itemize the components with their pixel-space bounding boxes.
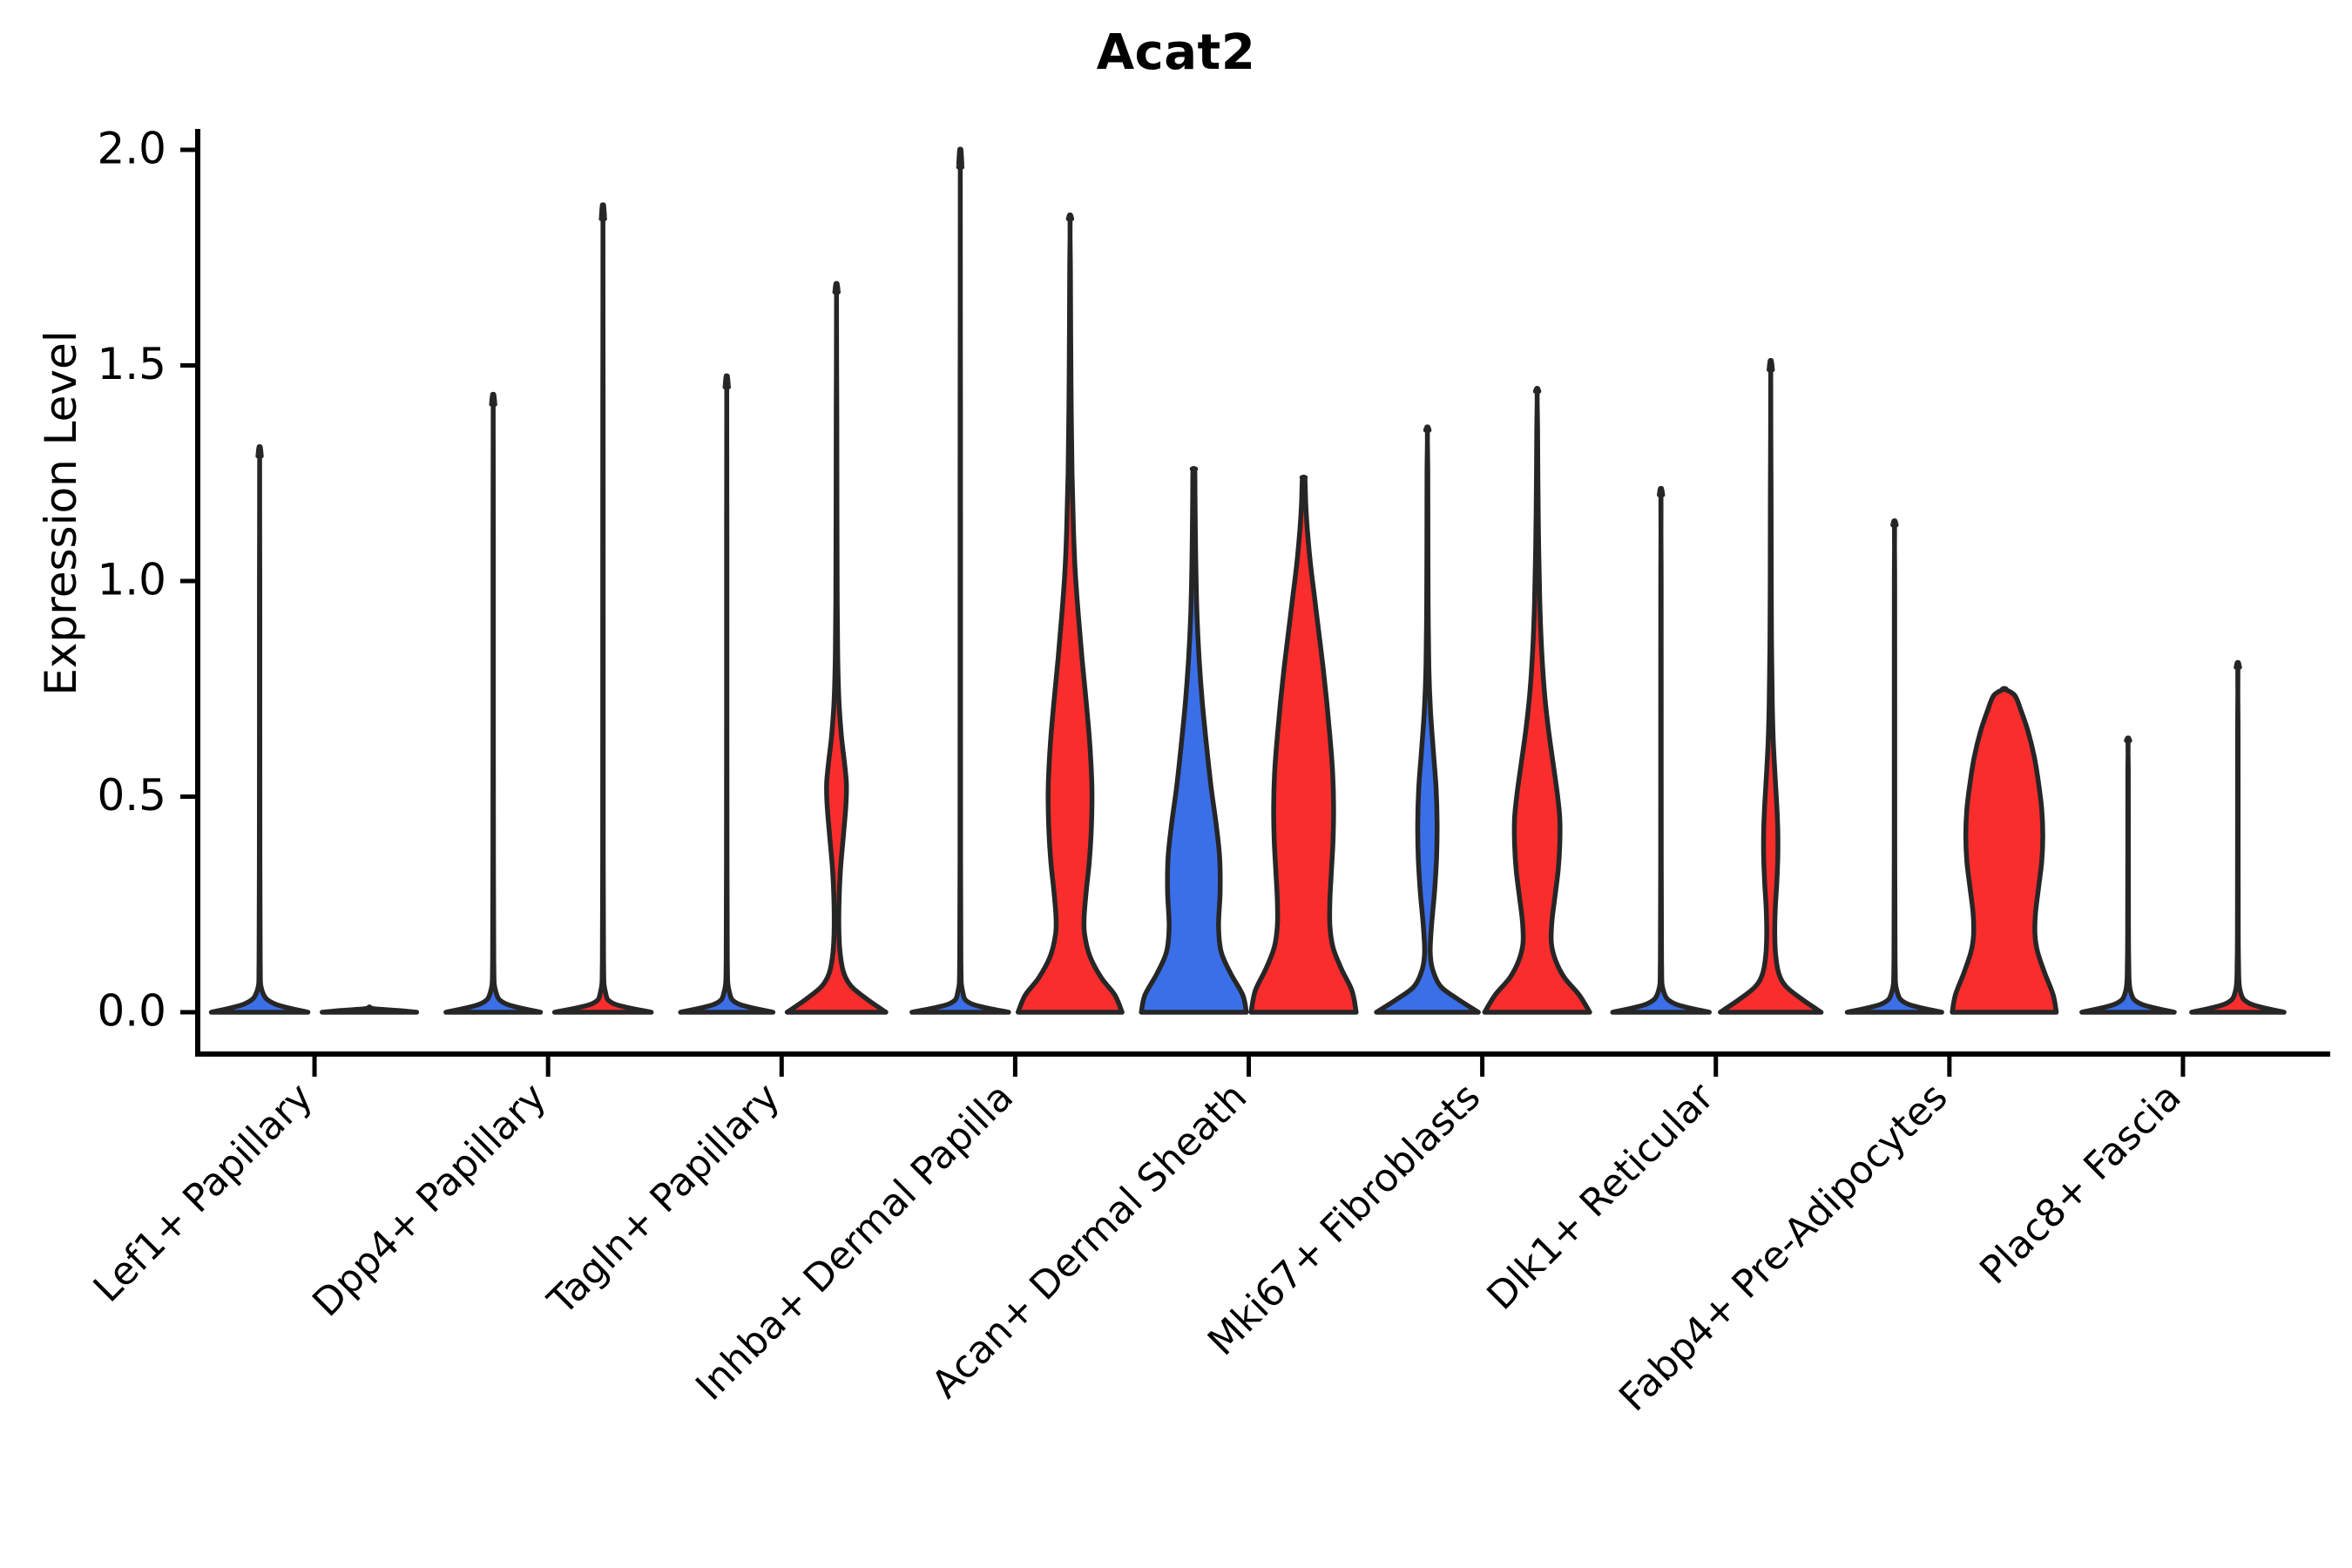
violin-series-a[interactable]: [212, 447, 308, 1012]
violin-series-b[interactable]: [1251, 477, 1356, 1012]
violin-series-b[interactable]: [555, 205, 652, 1012]
violin-group[interactable]: [1376, 389, 1590, 1012]
violin-group[interactable]: [446, 205, 652, 1012]
violin-series-a[interactable]: [1376, 427, 1478, 1012]
violin-series-a[interactable]: [1141, 469, 1247, 1012]
y-tick-label: 0.0: [97, 986, 166, 1037]
y-tick-label: 2.0: [97, 124, 166, 174]
violin-series-a[interactable]: [2082, 738, 2174, 1012]
violin-series-b[interactable]: [1484, 389, 1590, 1012]
violin-group[interactable]: [2082, 663, 2284, 1012]
violin-series-a[interactable]: [912, 149, 1009, 1012]
violin-series-b[interactable]: [1720, 361, 1821, 1012]
y-tick-labels: 0.00.51.01.52.0: [97, 124, 166, 1037]
violin-series-b[interactable]: [2192, 663, 2284, 1012]
violin-group[interactable]: [912, 149, 1122, 1012]
violin-group[interactable]: [1848, 521, 2057, 1012]
plot-canvas: 0.00.51.01.52.0 Lef1+ PapillaryDpp4+ Pap…: [0, 0, 2352, 1568]
violin-series-a[interactable]: [1848, 521, 1943, 1012]
y-tick-label: 1.5: [97, 339, 166, 389]
x-tick-label: Plac8+ Fascia: [1971, 1075, 2190, 1294]
x-tick-label: Dlk1+ Reticular: [1479, 1074, 1724, 1319]
violin-group[interactable]: [212, 447, 417, 1012]
y-tick-label: 0.5: [97, 770, 166, 821]
violin-group[interactable]: [680, 283, 886, 1012]
violin-plot-figure: Acat2 Expression Level 0.00.51.01.52.0 L…: [0, 0, 2352, 1568]
violin-series-a[interactable]: [680, 375, 773, 1012]
violin-series-b[interactable]: [787, 283, 886, 1012]
x-tick-labels: Lef1+ PapillaryDpp4+ PapillaryTagln+ Pap…: [85, 1074, 2190, 1420]
x-tick-label: Tagln+ Papillary: [539, 1075, 788, 1324]
violin-series-a[interactable]: [1612, 489, 1709, 1012]
x-tick-label: Dpp4+ Papillary: [304, 1075, 555, 1326]
violin-series-b[interactable]: [322, 1007, 417, 1012]
violin-group[interactable]: [1141, 469, 1356, 1012]
y-tick-label: 1.0: [97, 555, 166, 605]
violins-layer: [212, 149, 2284, 1012]
violin-group[interactable]: [1612, 361, 1821, 1012]
violin-series-b[interactable]: [1018, 215, 1122, 1012]
violin-series-a[interactable]: [446, 395, 541, 1012]
violin-series-b[interactable]: [1952, 688, 2056, 1012]
x-tick-label: Lef1+ Papillary: [85, 1075, 321, 1311]
